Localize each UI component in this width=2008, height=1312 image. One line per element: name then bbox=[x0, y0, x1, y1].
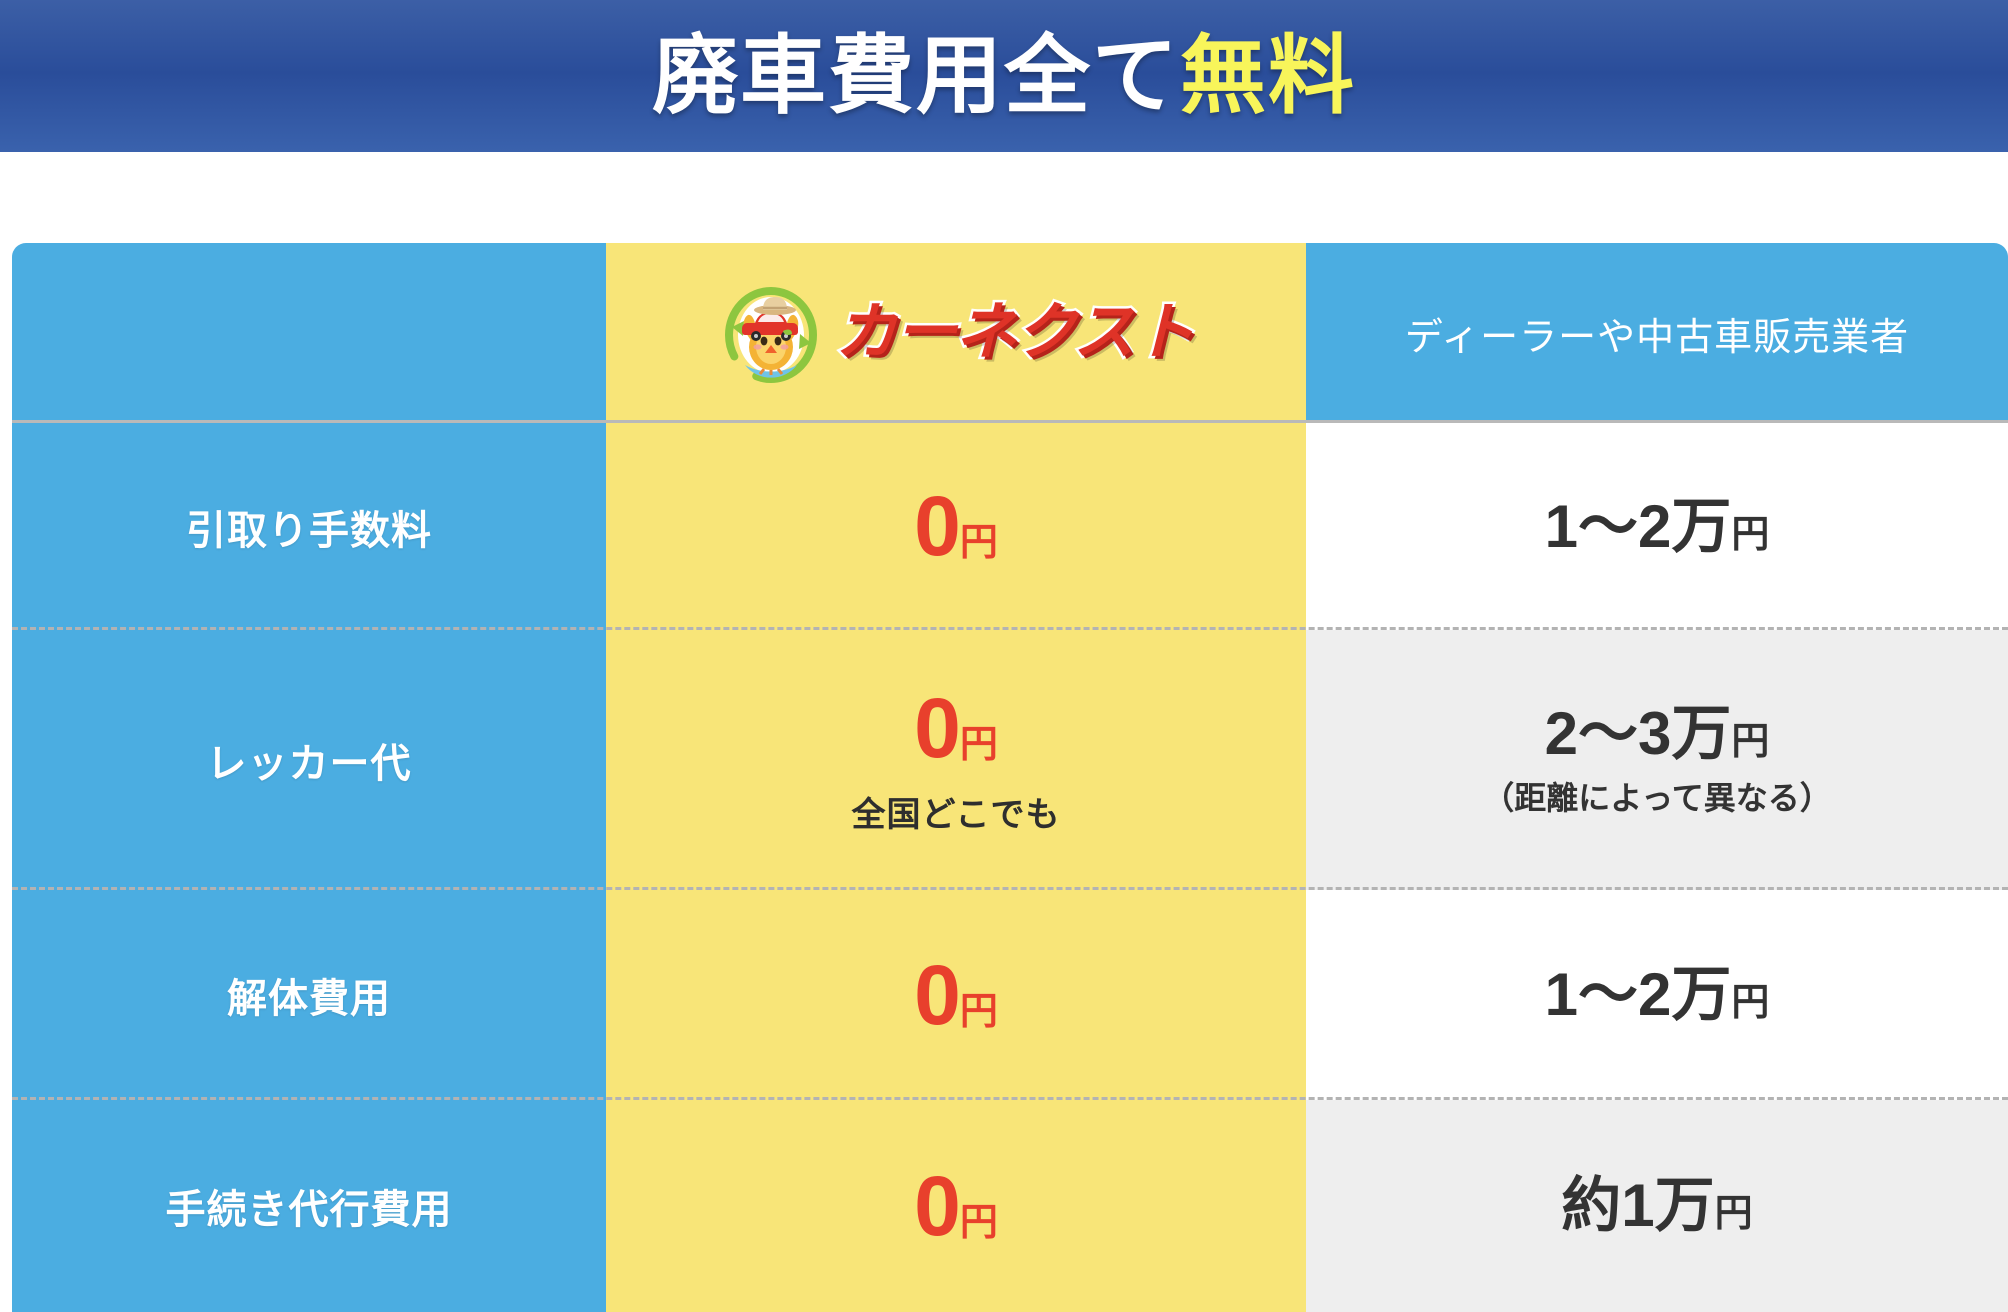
table-row: 解体費用 0円 1〜2万円 bbox=[12, 890, 2008, 1100]
table-header-cell-carnext: カーネクスト bbox=[606, 243, 1306, 423]
carnext-price: 0円 bbox=[914, 1162, 998, 1250]
banner-title-highlight: 無料 bbox=[1180, 28, 1356, 124]
row-carnext-cell: 0円 全国どこでも bbox=[606, 630, 1306, 890]
dealer-price-unit: 円 bbox=[1731, 982, 1769, 1024]
dealer-price: 1〜2万円 bbox=[1545, 962, 1770, 1028]
carnext-price: 0円 bbox=[914, 684, 998, 772]
carnext-logo-text: カーネクスト bbox=[835, 302, 1193, 364]
page-root: 廃車費用全て無料 bbox=[0, 0, 2008, 1312]
row-carnext-cell: 0円 bbox=[606, 890, 1306, 1100]
table-header-cell-empty bbox=[12, 243, 606, 423]
carnext-price-amount: 0 bbox=[914, 681, 960, 775]
dealer-price-unit: 円 bbox=[1731, 514, 1769, 556]
carnext-chick-mascot-icon bbox=[719, 281, 823, 385]
dealer-price-amount: 1〜2万 bbox=[1545, 961, 1732, 1028]
row-label-cell: 解体費用 bbox=[12, 890, 606, 1100]
carnext-price-unit: 円 bbox=[960, 991, 998, 1033]
banner-title-main: 廃車費用全て bbox=[652, 28, 1180, 124]
carnext-price-amount: 0 bbox=[914, 479, 960, 573]
row-dealer-cell: 1〜2万円 bbox=[1306, 890, 2008, 1100]
banner-title: 廃車費用全て無料 bbox=[652, 33, 1356, 119]
row-label-cell: レッカー代 bbox=[12, 630, 606, 890]
carnext-price: 0円 bbox=[914, 482, 998, 570]
row-label: 解体費用 bbox=[227, 966, 391, 1024]
row-dealer-cell: 約1万円 bbox=[1306, 1100, 2008, 1312]
row-label: 手続き代行費用 bbox=[166, 1177, 453, 1235]
table-row: レッカー代 0円 全国どこでも 2〜3万円 （距離によって異なる） bbox=[12, 630, 2008, 890]
row-label: レッカー代 bbox=[207, 731, 412, 789]
carnext-price-unit: 円 bbox=[960, 522, 998, 564]
dealer-price-amount: 約1万 bbox=[1561, 1172, 1714, 1239]
row-label-cell: 引取り手数料 bbox=[12, 423, 606, 630]
dealer-price: 1〜2万円 bbox=[1545, 494, 1770, 560]
row-carnext-cell: 0円 bbox=[606, 1100, 1306, 1312]
dealer-price-unit: 円 bbox=[1715, 1193, 1753, 1235]
carnext-price-unit: 円 bbox=[960, 724, 998, 766]
fee-comparison-table: カーネクスト ディーラーや中古車販売業者 引取り手数料 0円 1〜2万円 bbox=[12, 243, 2008, 1312]
page-banner: 廃車費用全て無料 bbox=[0, 0, 2008, 152]
row-carnext-cell: 0円 bbox=[606, 423, 1306, 630]
dealer-price-amount: 1〜2万 bbox=[1545, 493, 1732, 560]
carnext-price-unit: 円 bbox=[960, 1202, 998, 1244]
row-divider bbox=[12, 627, 2008, 630]
dealer-price: 約1万円 bbox=[1561, 1173, 1752, 1239]
row-divider bbox=[12, 887, 2008, 890]
row-label: 引取り手数料 bbox=[186, 498, 432, 556]
row-label-cell: 手続き代行費用 bbox=[12, 1100, 606, 1312]
table-row: 手続き代行費用 0円 約1万円 bbox=[12, 1100, 2008, 1312]
table-header-row: カーネクスト ディーラーや中古車販売業者 bbox=[12, 243, 2008, 423]
row-dealer-cell: 2〜3万円 （距離によって異なる） bbox=[1306, 630, 2008, 890]
row-dealer-cell: 1〜2万円 bbox=[1306, 423, 2008, 630]
carnext-price-note: 全国どこでも bbox=[852, 787, 1061, 836]
header-row-divider bbox=[12, 420, 2008, 423]
dealer-price-note: （距離によって異なる） bbox=[1482, 773, 1831, 819]
dealer-price: 2〜3万円 bbox=[1545, 701, 1770, 767]
carnext-price-amount: 0 bbox=[914, 1159, 960, 1253]
dealer-price-amount: 2〜3万 bbox=[1545, 700, 1732, 767]
table-header-dealer-label: ディーラーや中古車販売業者 bbox=[1405, 306, 1909, 361]
table-header-cell-dealer: ディーラーや中古車販売業者 bbox=[1306, 243, 2008, 423]
table-row: 引取り手数料 0円 1〜2万円 bbox=[12, 423, 2008, 630]
row-divider bbox=[12, 1097, 2008, 1100]
carnext-price-amount: 0 bbox=[914, 948, 960, 1042]
dealer-price-unit: 円 bbox=[1731, 721, 1769, 763]
carnext-price: 0円 bbox=[914, 951, 998, 1039]
carnext-logo: カーネクスト bbox=[719, 281, 1193, 385]
